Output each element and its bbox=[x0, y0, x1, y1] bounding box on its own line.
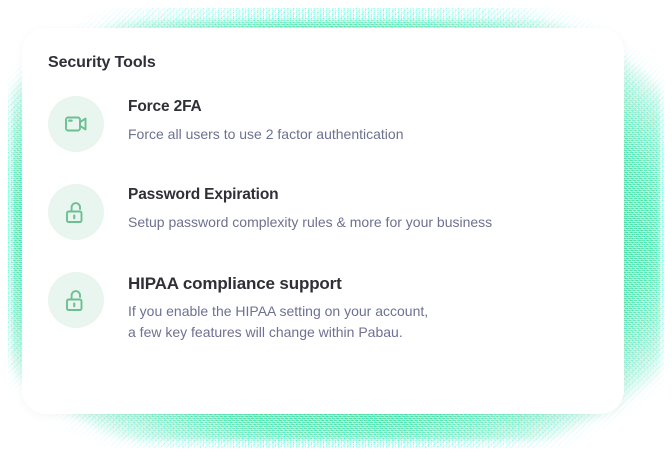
list-item[interactable]: HIPAA compliance support If you enable t… bbox=[48, 270, 594, 342]
screenshot-stage: Security Tools Force 2FA Force all users… bbox=[0, 0, 672, 474]
list-item-title: HIPAA compliance support bbox=[128, 274, 428, 294]
list-item-description: Force all users to use 2 factor authenti… bbox=[128, 124, 403, 144]
video-camera-icon bbox=[48, 96, 104, 152]
unlocked-padlock-icon bbox=[48, 272, 104, 328]
list-item-title: Force 2FA bbox=[128, 98, 403, 117]
list-item[interactable]: Password Expiration Setup password compl… bbox=[48, 182, 594, 240]
security-tools-card: Security Tools Force 2FA Force all users… bbox=[22, 28, 624, 414]
security-tools-list: Force 2FA Force all users to use 2 facto… bbox=[48, 94, 594, 342]
list-item-text: HIPAA compliance support If you enable t… bbox=[128, 270, 428, 342]
list-item-description: If you enable the HIPAA setting on your … bbox=[128, 301, 428, 342]
list-item-title: Password Expiration bbox=[128, 186, 492, 205]
list-item-text: Force 2FA Force all users to use 2 facto… bbox=[128, 94, 403, 144]
list-item[interactable]: Force 2FA Force all users to use 2 facto… bbox=[48, 94, 594, 152]
list-item-text: Password Expiration Setup password compl… bbox=[128, 182, 492, 232]
unlocked-padlock-icon bbox=[48, 184, 104, 240]
list-item-description: Setup password complexity rules & more f… bbox=[128, 212, 492, 232]
page-title: Security Tools bbox=[48, 54, 594, 72]
